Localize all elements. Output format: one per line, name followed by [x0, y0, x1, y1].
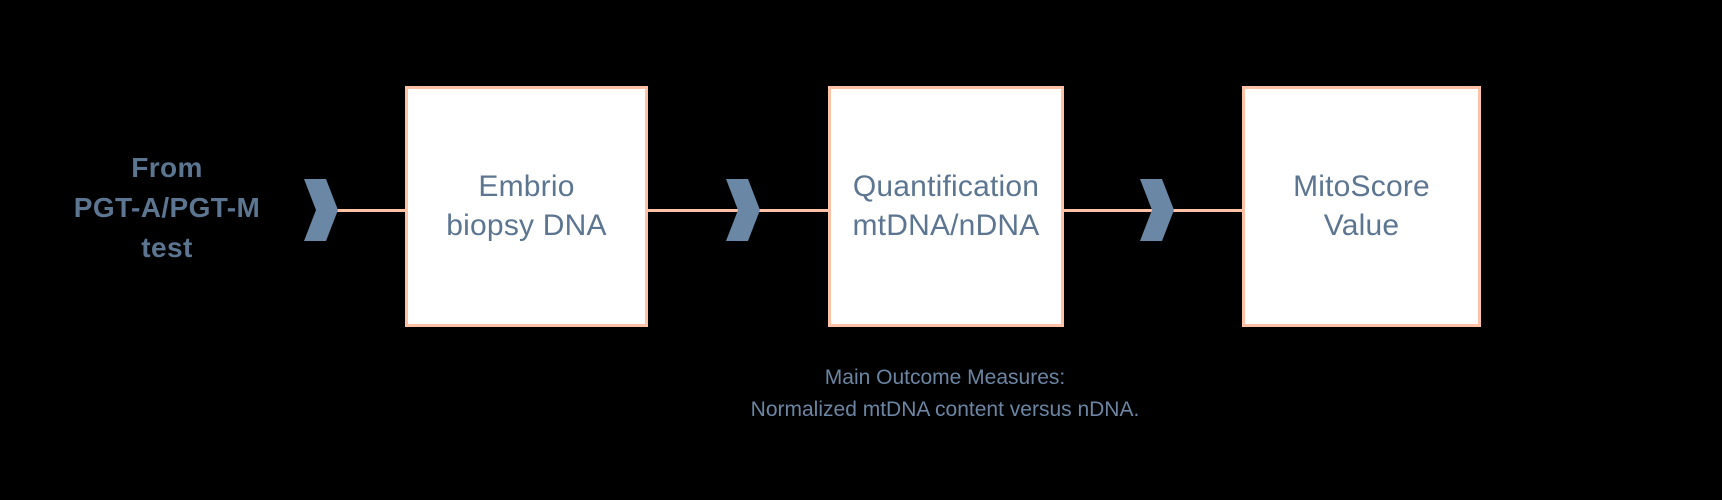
connector-line-1	[332, 209, 407, 212]
outcome-caption: Main Outcome Measures: Normalized mtDNA …	[600, 362, 1290, 426]
entry-label: From PGT-A/PGT-M test	[22, 148, 312, 267]
process-box-step-2: Quantification mtDNA/nDNA	[828, 86, 1064, 327]
chevron-3-icon	[1136, 179, 1174, 241]
process-box-label-step-2: Quantification mtDNA/nDNA	[844, 168, 1047, 245]
chevron-1-icon	[300, 179, 338, 241]
process-box-label-step-3: MitoScore Value	[1285, 168, 1438, 245]
process-box-step-3: MitoScore Value	[1242, 86, 1481, 327]
process-box-label-step-1: Embrio biopsy DNA	[438, 168, 614, 245]
chevron-2-icon	[722, 179, 760, 241]
outcome-caption-line-2: Normalized mtDNA content versus nDNA.	[600, 394, 1290, 426]
diagram-canvas: From PGT-A/PGT-M test Embrio biopsy DNA …	[0, 0, 1722, 500]
outcome-caption-line-1: Main Outcome Measures:	[600, 362, 1290, 394]
process-box-step-1: Embrio biopsy DNA	[405, 86, 648, 327]
